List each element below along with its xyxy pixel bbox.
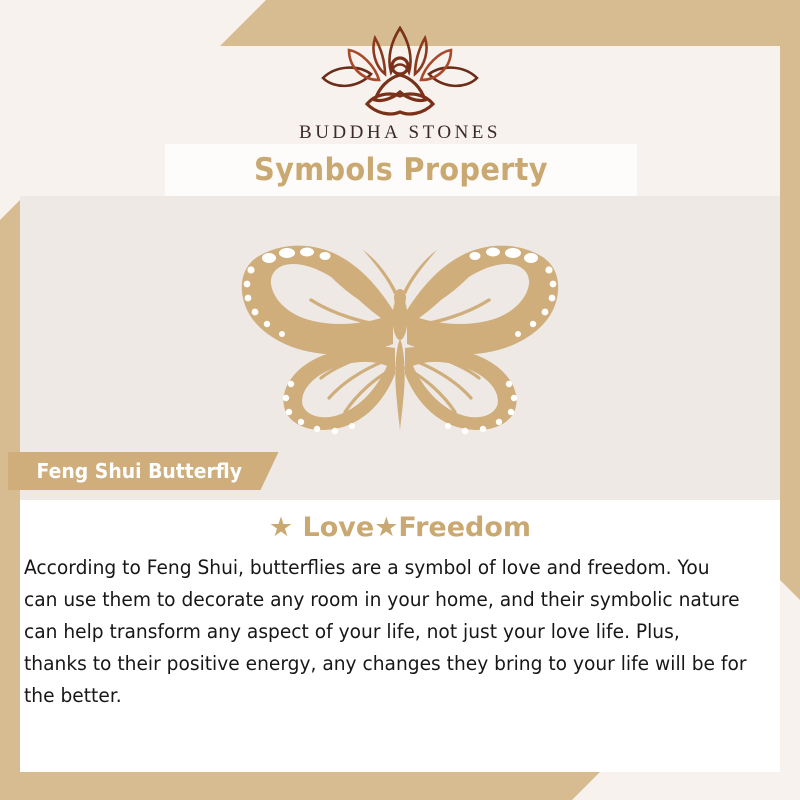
infographic-page: BUDDHA STONES Symbols Property [0,0,800,800]
hero-caption-label: Feng Shui Butterfly [37,459,242,483]
hero-illustration [0,226,800,451]
brand-logo: BUDDHA STONES [0,22,800,144]
page-title: Symbols Property [254,152,548,188]
brand-name: BUDDHA STONES [0,122,800,144]
content-subheading: ★ Love★Freedom [0,512,800,543]
lotus-meditation-figure-icon [305,22,495,120]
page-title-band: Symbols Property [165,144,637,196]
frame-band-bottom [0,772,600,800]
hero-caption-ribbon: Feng Shui Butterfly [8,452,279,490]
content-paragraph: According to Feng Shui, butterflies are … [24,552,748,712]
butterfly-icon [215,226,585,446]
